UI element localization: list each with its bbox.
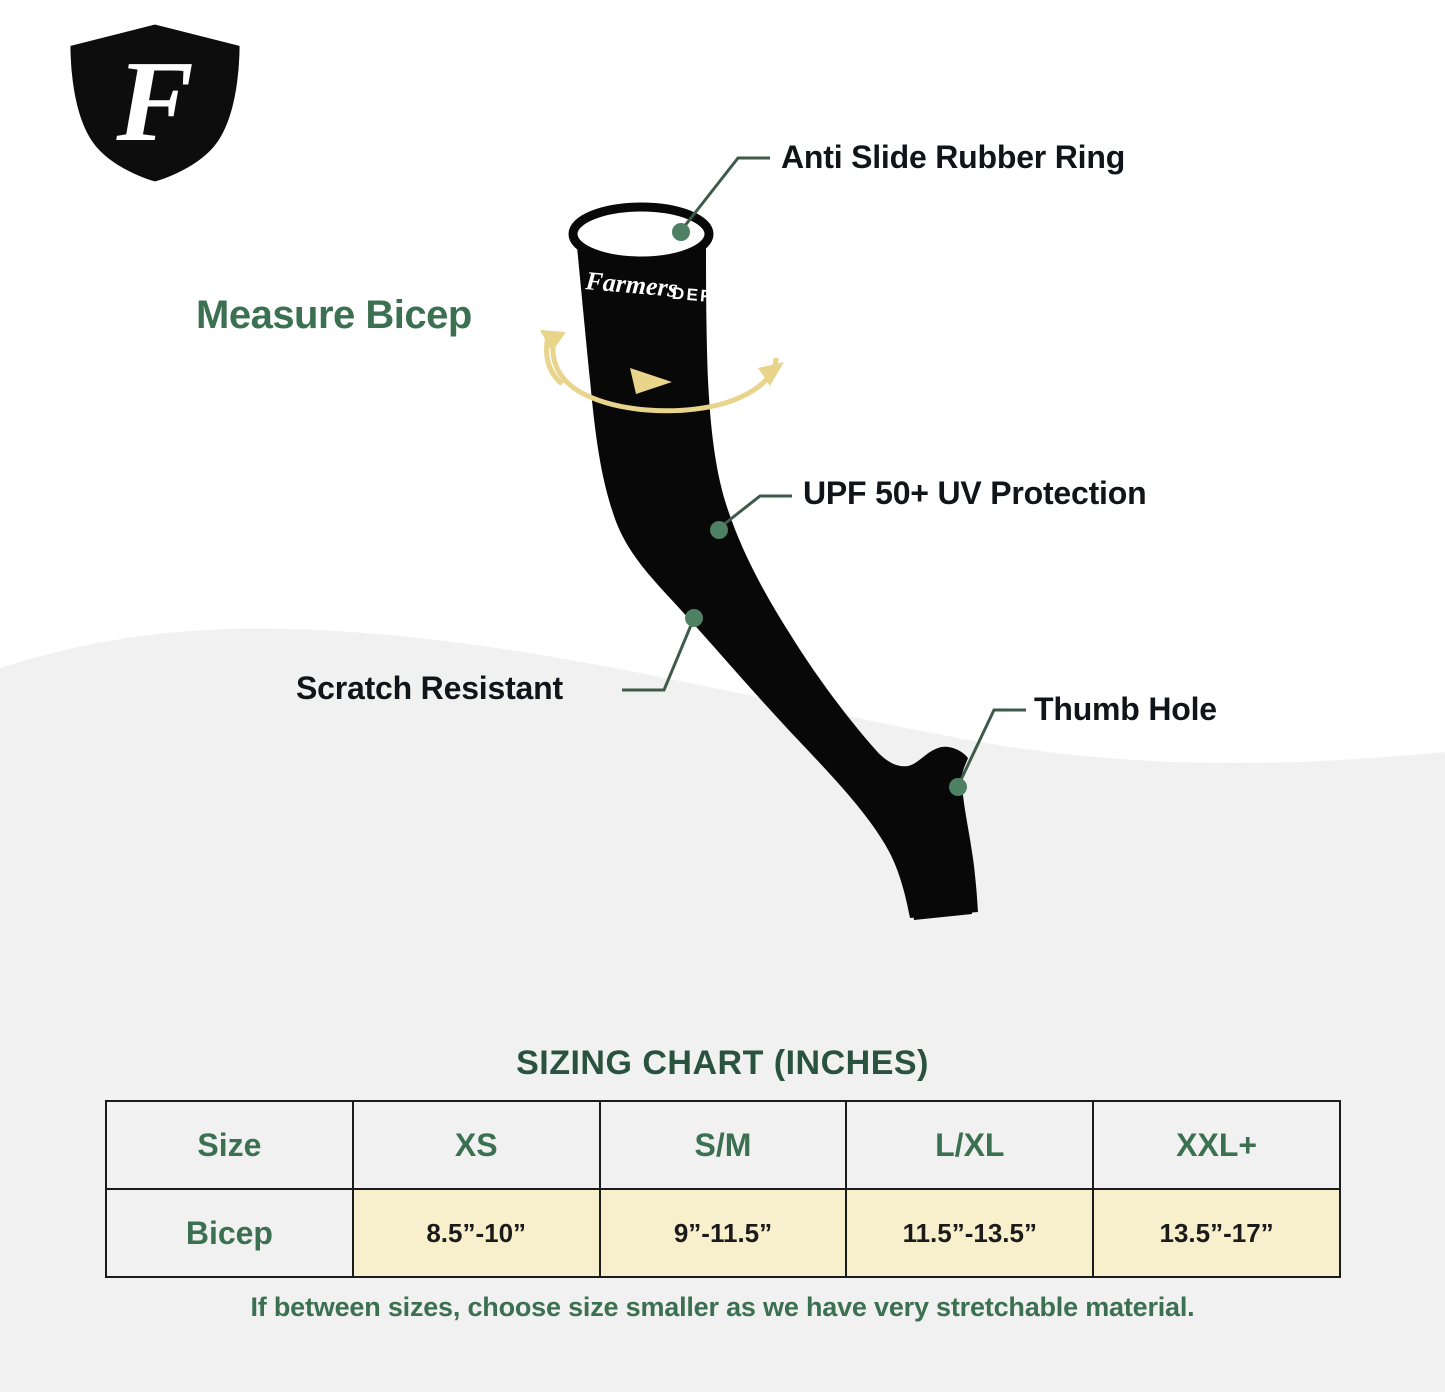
leader-line-scratch — [622, 618, 694, 690]
table-cell-bicep-sm: 9”-11.5” — [600, 1189, 847, 1277]
callout-scratch-resistant: Scratch Resistant — [296, 670, 563, 707]
dot-upf — [710, 521, 728, 539]
table-header-xxl: XXL+ — [1093, 1101, 1340, 1189]
table-header-row: Size XS S/M L/XL XXL+ — [106, 1101, 1340, 1189]
callout-upf-protection: UPF 50+ UV Protection — [803, 475, 1146, 512]
shield-f-logo-icon: F — [56, 18, 254, 188]
dot-thumb — [949, 778, 967, 796]
callout-thumb-hole: Thumb Hole — [1034, 691, 1217, 728]
sleeve-body — [576, 236, 978, 920]
logo-letter: F — [115, 38, 193, 166]
dot-scratch — [685, 609, 703, 627]
callout-anti-slide-rubber-ring: Anti Slide Rubber Ring — [781, 139, 1125, 176]
dot-anti-slide — [672, 223, 690, 241]
table-row: Bicep 8.5”-10” 9”-11.5” 11.5”-13.5” 13.5… — [106, 1189, 1340, 1277]
sizing-chart-table: Size XS S/M L/XL XXL+ Bicep 8.5”-10” 9”-… — [105, 1100, 1341, 1278]
table-cell-bicep-lxl: 11.5”-13.5” — [846, 1189, 1093, 1277]
measure-bicep-label: Measure Bicep — [196, 293, 472, 338]
table-header-sm: S/M — [600, 1101, 847, 1189]
table-row-label-bicep: Bicep — [106, 1189, 353, 1277]
sizing-chart-title: SIZING CHART (INCHES) — [0, 1044, 1445, 1083]
table-cell-bicep-xxl: 13.5”-17” — [1093, 1189, 1340, 1277]
leader-line-thumb — [958, 710, 1026, 786]
table-header-xs: XS — [353, 1101, 600, 1189]
table-header-size: Size — [106, 1101, 353, 1189]
table-header-lxl: L/XL — [846, 1101, 1093, 1189]
table-cell-bicep-xs: 8.5”-10” — [353, 1189, 600, 1277]
infographic-root: F Farmers DEFENSE — [0, 0, 1445, 1392]
sizing-chart-note: If between sizes, choose size smaller as… — [0, 1292, 1445, 1323]
